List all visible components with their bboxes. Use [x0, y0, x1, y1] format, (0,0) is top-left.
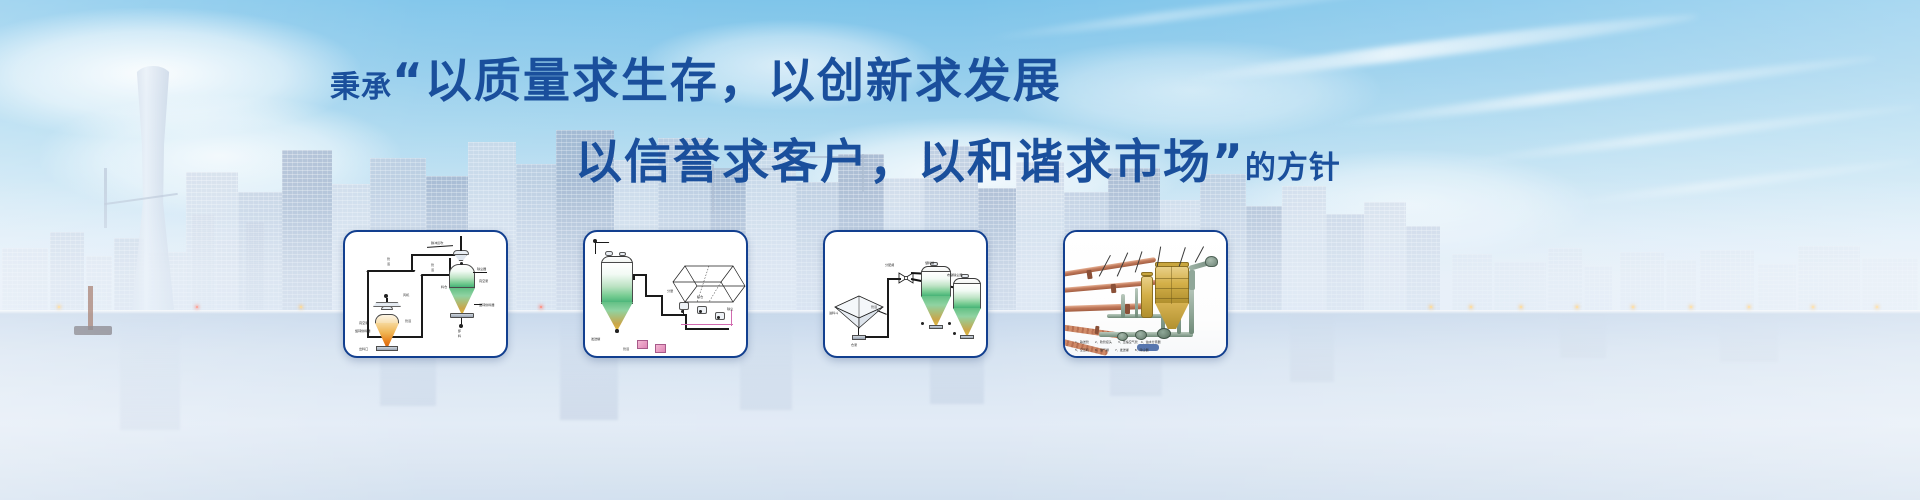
card-1-diagram: 脉冲反吹 除尘器 真空泵 料仓 旋转供料器 卸料 风机 真空泵 旋转供料器 出料… [345, 232, 506, 356]
cloud-wisp [1451, 101, 1919, 168]
landmark-tower [130, 66, 176, 310]
slogan-prefix: 秉承 [330, 70, 392, 105]
buoy-mast [88, 286, 93, 330]
buoy-base [74, 326, 112, 335]
diagram-card-3[interactable]: 分配阀 储料罐 布袋除尘器 管道 进料斗 仓泵 [823, 230, 988, 358]
cloud [40, 96, 400, 216]
diagram-card-1[interactable]: 脉冲反吹 除尘器 真空泵 料仓 旋转供料器 卸料 风机 真空泵 旋转供料器 出料… [343, 230, 508, 358]
cloud [0, 8, 360, 138]
cloud [1230, 150, 1590, 260]
cloud-wisp [1181, 8, 1699, 87]
slogan-suffix: 的方针 [1245, 150, 1341, 186]
platform-wireframe [671, 262, 747, 308]
cloud [760, 118, 1180, 228]
slogan-line-2-main: 以信誉求客户，以和谐求市场” [575, 135, 1245, 190]
slogan-line-1-main: “以质量求生存，以创新求发展 [392, 54, 1062, 109]
cloud-wisp [981, 0, 1409, 44]
cloud-wisp [1561, 156, 1919, 209]
cloud [640, 20, 940, 110]
card-4-diagram: 1、输送管 2、软管接头 3、压缩空气管 4、油水分离器 5、空压机 6、储气罐… [1065, 232, 1226, 356]
slogan-block: 秉承“以质量求生存，以创新求发展 以信誉求客户，以和谐求市场”的方针 [0, 42, 1920, 192]
card-3-diagram: 分配阀 储料罐 布袋除尘器 管道 进料斗 仓泵 [825, 232, 986, 356]
diagram-card-4[interactable]: 1、输送管 2、软管接头 3、压缩空气管 4、油水分离器 5、空压机 6、储气罐… [1063, 230, 1228, 358]
hero-banner: 秉承“以质量求生存，以创新求发展 以信誉求客户，以和谐求市场”的方针 [0, 0, 1920, 500]
feed-hopper-icon [833, 294, 885, 332]
diagram-card-2[interactable]: 分量 除尘 管道 发送罐 料仓 [583, 230, 748, 358]
card-2-diagram: 分量 除尘 管道 发送罐 料仓 [585, 232, 746, 356]
